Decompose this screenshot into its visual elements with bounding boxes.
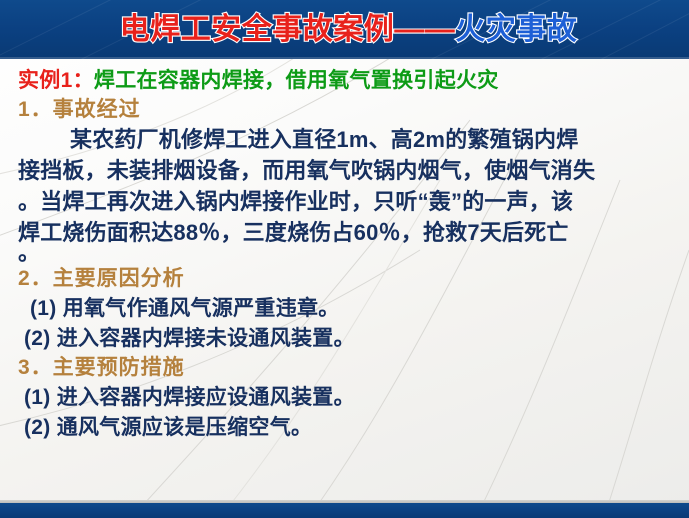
section-3-heading: 3．主要预防措施	[18, 357, 679, 378]
slide-canvas: 电焊工安全事故案例——火灾事故 实例1：焊工在容器内焊接，借用氧气置换引起火灾 …	[0, 0, 689, 518]
section-1-paragraph-line-2: 接挡板，未装排烟设备，而用氧气吹锅内烟气，使烟气消失	[18, 160, 679, 182]
example-label: 实例1：	[18, 69, 94, 92]
section-3-item-1: (1) 进入容器内焊接应设通风装置。	[24, 387, 679, 408]
section-1-paragraph-line-3: 。当焊工再次进入锅内焊接作业时，只听“轰”的一声，该	[18, 191, 679, 213]
page-title-red-part: 电焊工安全事故案例——	[120, 15, 456, 45]
example-text: 焊工在容器内焊接，借用氧气置换引起火灾	[94, 69, 499, 92]
slide-content: 实例1：焊工在容器内焊接，借用氧气置换引起火灾 1．事故经过 某农药厂机修焊工进…	[0, 59, 689, 503]
page-title: 电焊工安全事故案例——火灾事故	[0, 0, 689, 59]
section-1-paragraph-line-5: 。	[18, 246, 679, 260]
section-3-item-2: (2) 通风气源应该是压缩空气。	[24, 417, 679, 438]
slide-header-band: 电焊工安全事故案例——火灾事故	[0, 0, 689, 59]
section-1-heading: 1．事故经过	[18, 99, 679, 120]
section-1-paragraph-line-1: 某农药厂机修焊工进入直径1m、高2m的繁殖锅内焊	[18, 129, 679, 151]
page-title-blue-part: 火灾事故	[455, 15, 577, 45]
section-1-paragraph-line-4: 焊工烧伤面积达88％，三度烧伤占60％，抢救7天后死亡	[18, 222, 679, 244]
example-line: 实例1：焊工在容器内焊接，借用氧气置换引起火灾	[18, 70, 679, 91]
section-2-item-2: (2) 进入容器内焊接未设通风装置。	[24, 328, 679, 349]
slide-footer-band	[0, 503, 689, 518]
section-2-item-1: (1) 用氧气作通风气源严重违章。	[30, 298, 679, 319]
section-2-heading: 2．主要原因分析	[18, 268, 679, 289]
